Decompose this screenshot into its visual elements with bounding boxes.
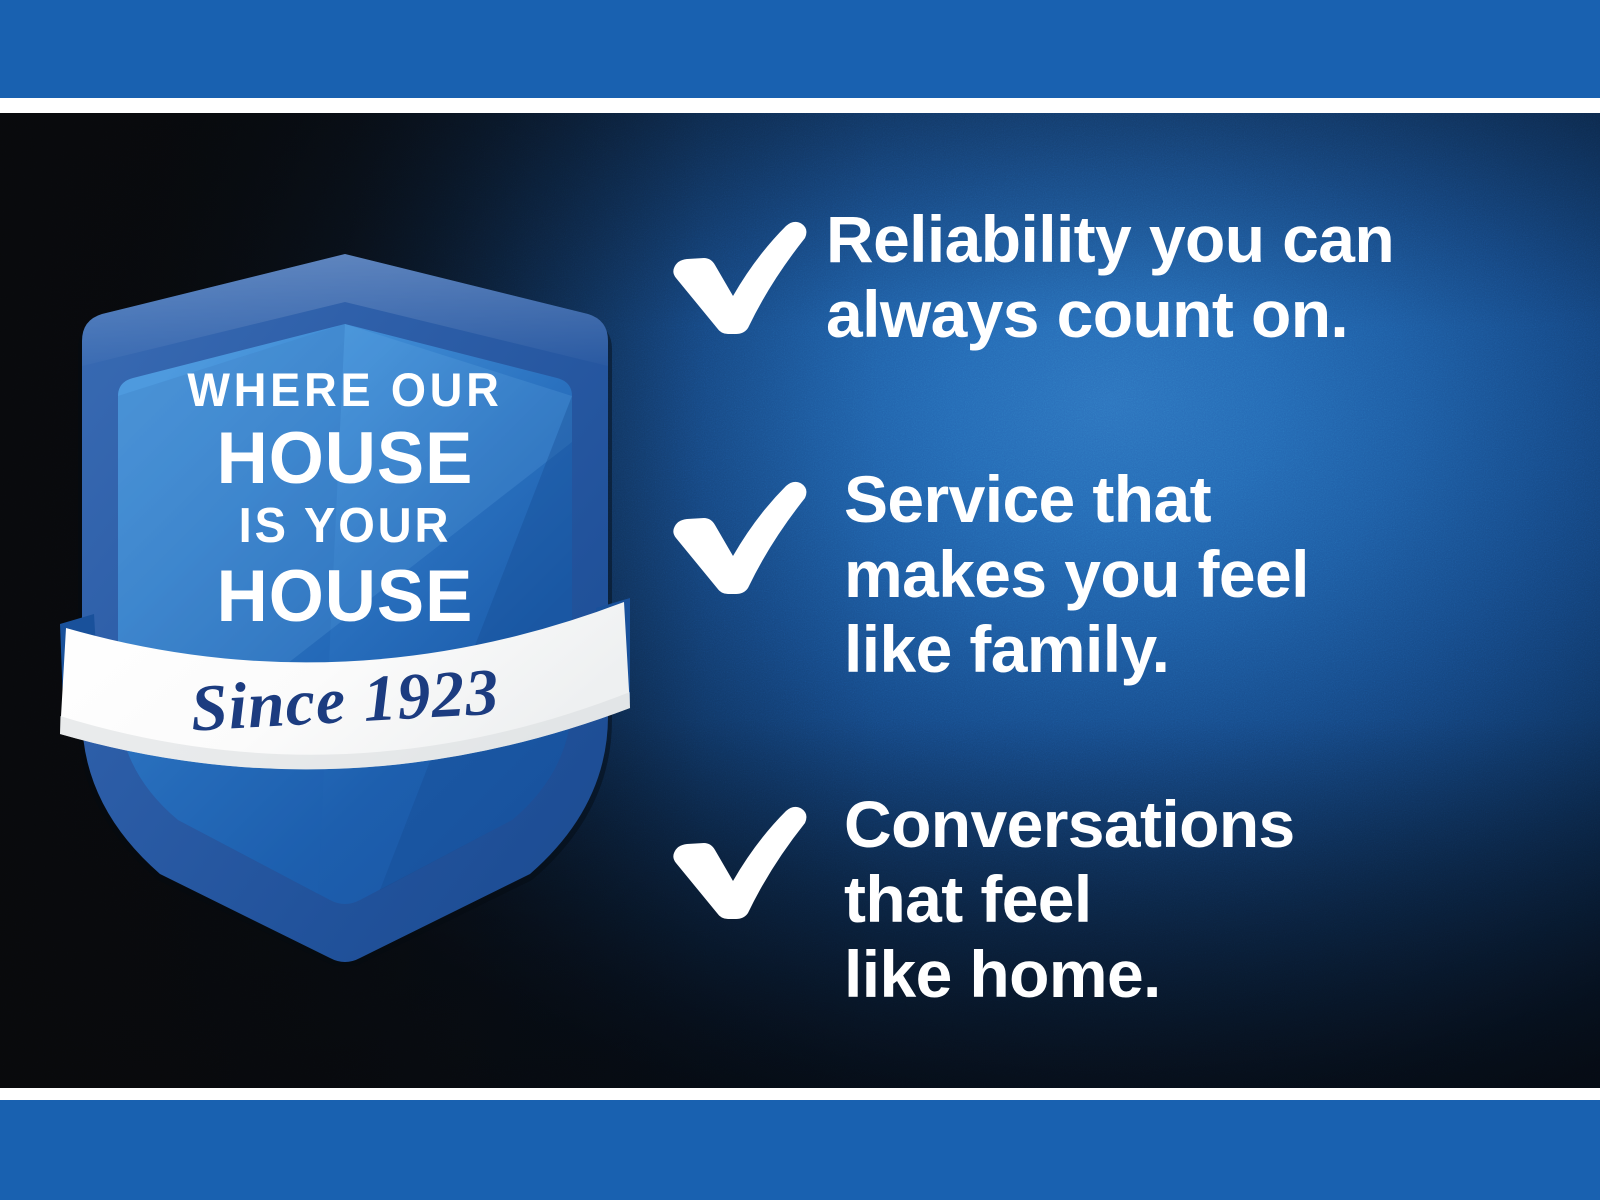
promo-poster: Where our House is your House Since 1923… [0,0,1600,1200]
check-icon [670,208,820,334]
benefit-item-service: Service that makes you feel like family. [670,468,1530,688]
company-shield-badge: Where our House is your House Since 1923 [60,246,630,966]
check-icon [670,468,820,594]
bottom-brand-band [0,1100,1600,1200]
benefit-item-conversations: Conversations that feel like home. [670,793,1530,1013]
main-stage: Where our House is your House Since 1923… [0,113,1600,1088]
bottom-white-divider [0,1088,1600,1100]
benefit-text: Conversations that feel like home. [844,787,1295,1013]
top-white-divider [0,98,1600,113]
benefit-item-reliability: Reliability you can always count on. [670,208,1530,352]
check-icon [670,793,820,919]
benefit-text: Reliability you can always count on. [826,202,1394,352]
top-brand-band [0,0,1600,98]
benefit-text: Service that makes you feel like family. [844,462,1309,688]
